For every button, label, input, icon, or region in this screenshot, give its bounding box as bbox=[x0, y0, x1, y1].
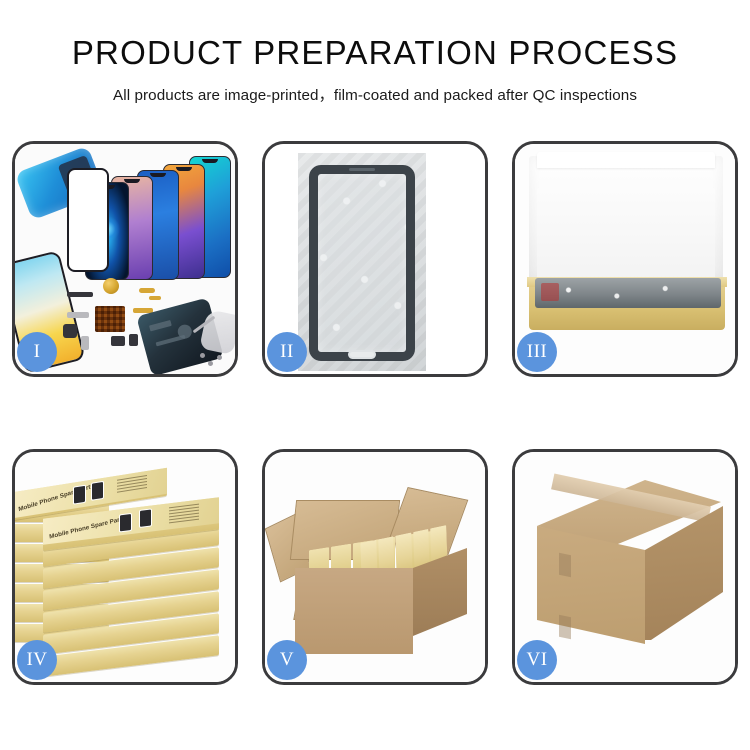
process-step-5: V bbox=[262, 449, 488, 685]
screw-part bbox=[200, 353, 205, 358]
ic-chip-part bbox=[95, 306, 125, 332]
page-title: PRODUCT PREPARATION PROCESS bbox=[0, 36, 750, 71]
step-badge-1: I bbox=[17, 332, 57, 372]
process-step-1: I bbox=[12, 141, 238, 377]
screen-in-box-image bbox=[535, 278, 721, 308]
page-subtitle: All products are image-printed，film-coat… bbox=[0, 83, 750, 105]
product-preparation-page: PRODUCT PREPARATION PROCESS All products… bbox=[0, 0, 750, 750]
earpiece-icon bbox=[349, 168, 375, 171]
bracket-part bbox=[67, 312, 89, 318]
step-badge-6: VI bbox=[517, 640, 557, 680]
gold-flex-part bbox=[139, 288, 155, 293]
carton-seam-mark bbox=[559, 553, 571, 578]
bubble-film-image bbox=[298, 153, 426, 371]
box-lid-phone-image bbox=[91, 481, 104, 501]
home-button-icon bbox=[348, 350, 376, 359]
carton-front-face bbox=[295, 568, 413, 654]
step-badge-5: V bbox=[267, 640, 307, 680]
process-step-2: II bbox=[262, 141, 488, 377]
box-lid-label: Mobile Phone Spare Parts bbox=[49, 515, 126, 540]
step-badge-4: IV bbox=[17, 640, 57, 680]
camera-module-part bbox=[63, 324, 77, 338]
process-step-grid: I II III bbox=[12, 141, 738, 685]
step-badge-2: II bbox=[267, 332, 307, 372]
carton-seam-mark bbox=[559, 615, 571, 640]
battery-connector-part bbox=[129, 334, 138, 346]
flex-cable-part bbox=[67, 292, 93, 297]
box-lid-phone-image bbox=[139, 508, 152, 528]
step-badge-3: III bbox=[517, 332, 557, 372]
speaker-module-part bbox=[103, 278, 119, 294]
gold-connector-part bbox=[149, 296, 161, 300]
process-step-6: VI bbox=[512, 449, 738, 685]
process-step-4: Mobile Phone Spare Parts bbox=[12, 449, 238, 685]
box-lid-spec-lines bbox=[169, 504, 199, 526]
wrapped-screen-image bbox=[309, 165, 415, 361]
notch-icon bbox=[124, 179, 140, 183]
page-header: PRODUCT PREPARATION PROCESS All products… bbox=[0, 0, 750, 105]
notch-icon bbox=[202, 159, 218, 163]
box-lid-spec-lines bbox=[117, 475, 147, 495]
notch-icon bbox=[176, 167, 192, 171]
process-step-3: III bbox=[512, 141, 738, 377]
box-lid-phone-image bbox=[73, 485, 86, 505]
chassis-component bbox=[149, 320, 172, 331]
white-blank-screen-image bbox=[67, 168, 109, 272]
buzzer-part bbox=[111, 336, 125, 346]
notch-icon bbox=[150, 173, 166, 177]
chassis-ribbon bbox=[156, 335, 186, 347]
screw-part bbox=[208, 361, 213, 366]
screw-part bbox=[217, 355, 222, 360]
box-lid-phone-image bbox=[119, 513, 132, 533]
sim-tray-part bbox=[81, 336, 89, 350]
